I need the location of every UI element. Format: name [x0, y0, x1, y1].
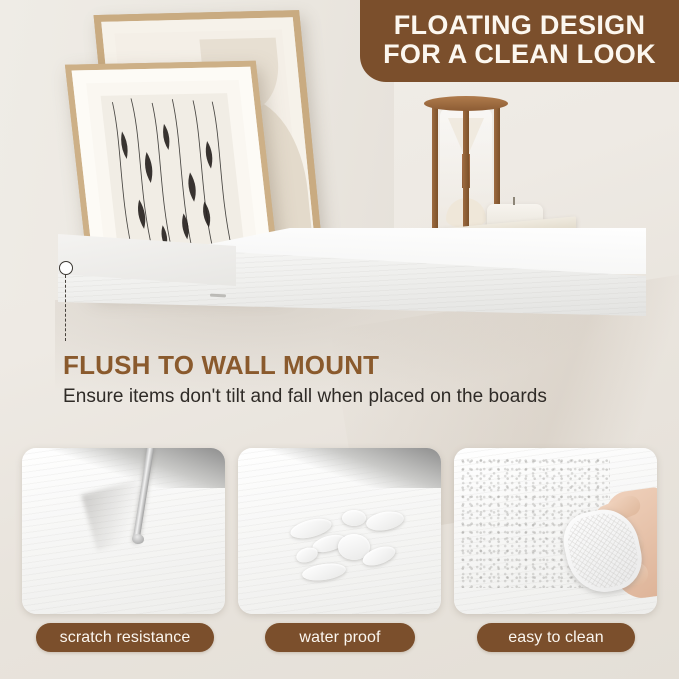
white-floating-shelf — [58, 228, 646, 340]
water-droplet — [342, 510, 366, 526]
floating-design-banner: FLOATING DESIGN FOR A CLEAN LOOK — [360, 0, 679, 82]
feature-label-water-proof: water proof — [265, 623, 415, 652]
feature-panels — [0, 448, 679, 618]
flush-mount-heading: FLUSH TO WALL MOUNT — [63, 350, 379, 381]
feature-image-scratch-resistance — [22, 448, 225, 614]
hourglass-post-center — [463, 104, 469, 238]
product-feature-image: FLOATING DESIGN FOR A CLEAN LOOK FLUSH T… — [0, 0, 679, 679]
banner-line-1: FLOATING DESIGN — [394, 11, 646, 40]
hourglass-post-left — [432, 104, 438, 238]
feature-image-water-proof — [238, 448, 441, 614]
flush-mount-subheading: Ensure items don't tilt and fall when pl… — [63, 386, 547, 408]
panel-corner-shading — [238, 448, 441, 488]
feature-label-scratch-resistance: scratch resistance — [36, 623, 214, 652]
feature-label-easy-to-clean: easy to clean — [477, 623, 635, 652]
dashed-leader-line-icon — [65, 275, 66, 341]
callout-dot-icon — [59, 261, 73, 275]
banner-line-2: FOR A CLEAN LOOK — [383, 40, 656, 69]
feature-image-easy-to-clean — [454, 448, 657, 614]
hourglass-cap-top — [424, 96, 508, 111]
candle-wick — [513, 197, 515, 205]
